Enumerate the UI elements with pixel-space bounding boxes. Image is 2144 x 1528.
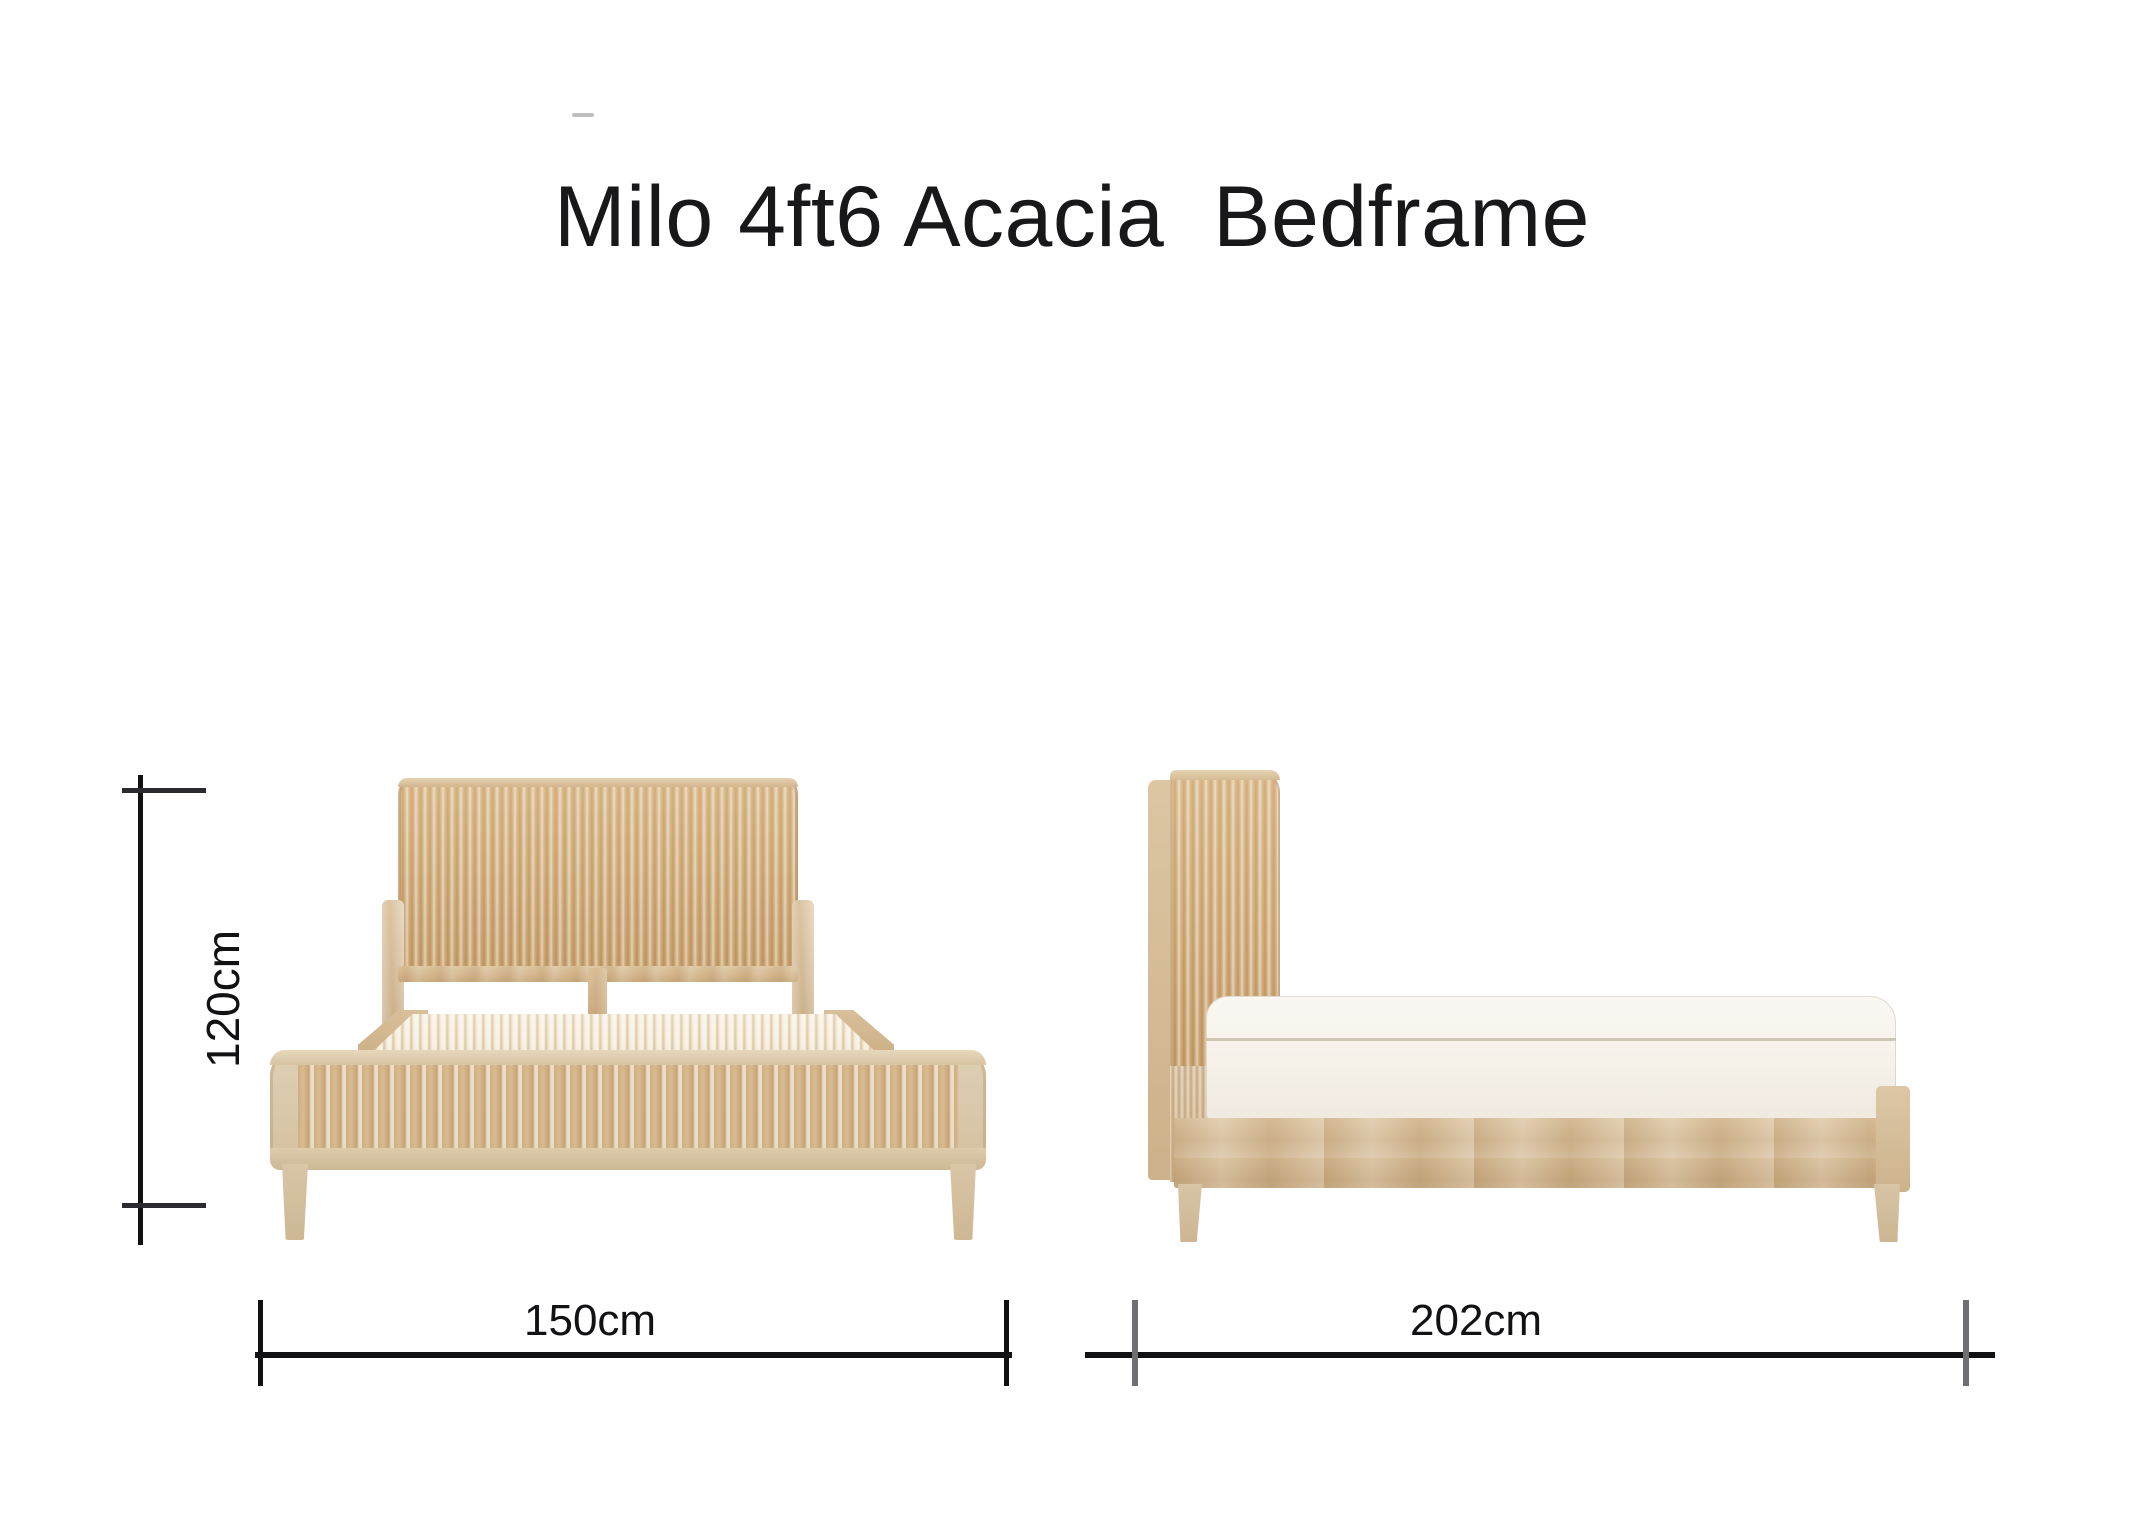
page-title: Milo 4ft6 Acacia Bedframe (0, 172, 2144, 262)
side-leg-right (1874, 1184, 1900, 1242)
front-leg-right (950, 1164, 976, 1240)
side-foot-post (1876, 1086, 1910, 1192)
length-dimension-tick-left (1132, 1300, 1138, 1386)
width-dimension-line (255, 1352, 1012, 1358)
front-footboard-bottom-rail (270, 1148, 986, 1170)
front-headboard-top-rail (398, 778, 798, 787)
front-footboard-slats (298, 1061, 958, 1153)
side-rail-panel (1174, 1118, 1890, 1188)
side-leg-left (1178, 1184, 1202, 1242)
height-dimension-tick-top (122, 788, 206, 793)
artifact-speck (572, 113, 594, 117)
width-dimension-tick-left (258, 1300, 263, 1386)
front-leg-left (282, 1164, 308, 1240)
height-dimension-label: 120cm (196, 930, 250, 1068)
side-headboard-top-cap (1170, 770, 1280, 780)
height-dimension-tick-bottom (122, 1203, 206, 1208)
side-mattress (1206, 996, 1896, 1122)
front-elevation-illustration (258, 778, 998, 1240)
front-headboard-panel (398, 778, 798, 972)
length-dimension-label: 202cm (1410, 1296, 1542, 1346)
side-mattress-seam (1206, 1038, 1896, 1041)
front-footboard-top-rail (270, 1050, 986, 1065)
dimension-diagram-page: Milo 4ft6 Acacia Bedframe (0, 0, 2144, 1528)
height-dimension-line (138, 775, 143, 1245)
length-dimension-tick-right (1963, 1300, 1969, 1386)
side-elevation-illustration (1148, 770, 1938, 1242)
width-dimension-label: 150cm (524, 1296, 656, 1346)
length-dimension-line (1085, 1352, 1995, 1358)
width-dimension-tick-right (1004, 1300, 1009, 1386)
